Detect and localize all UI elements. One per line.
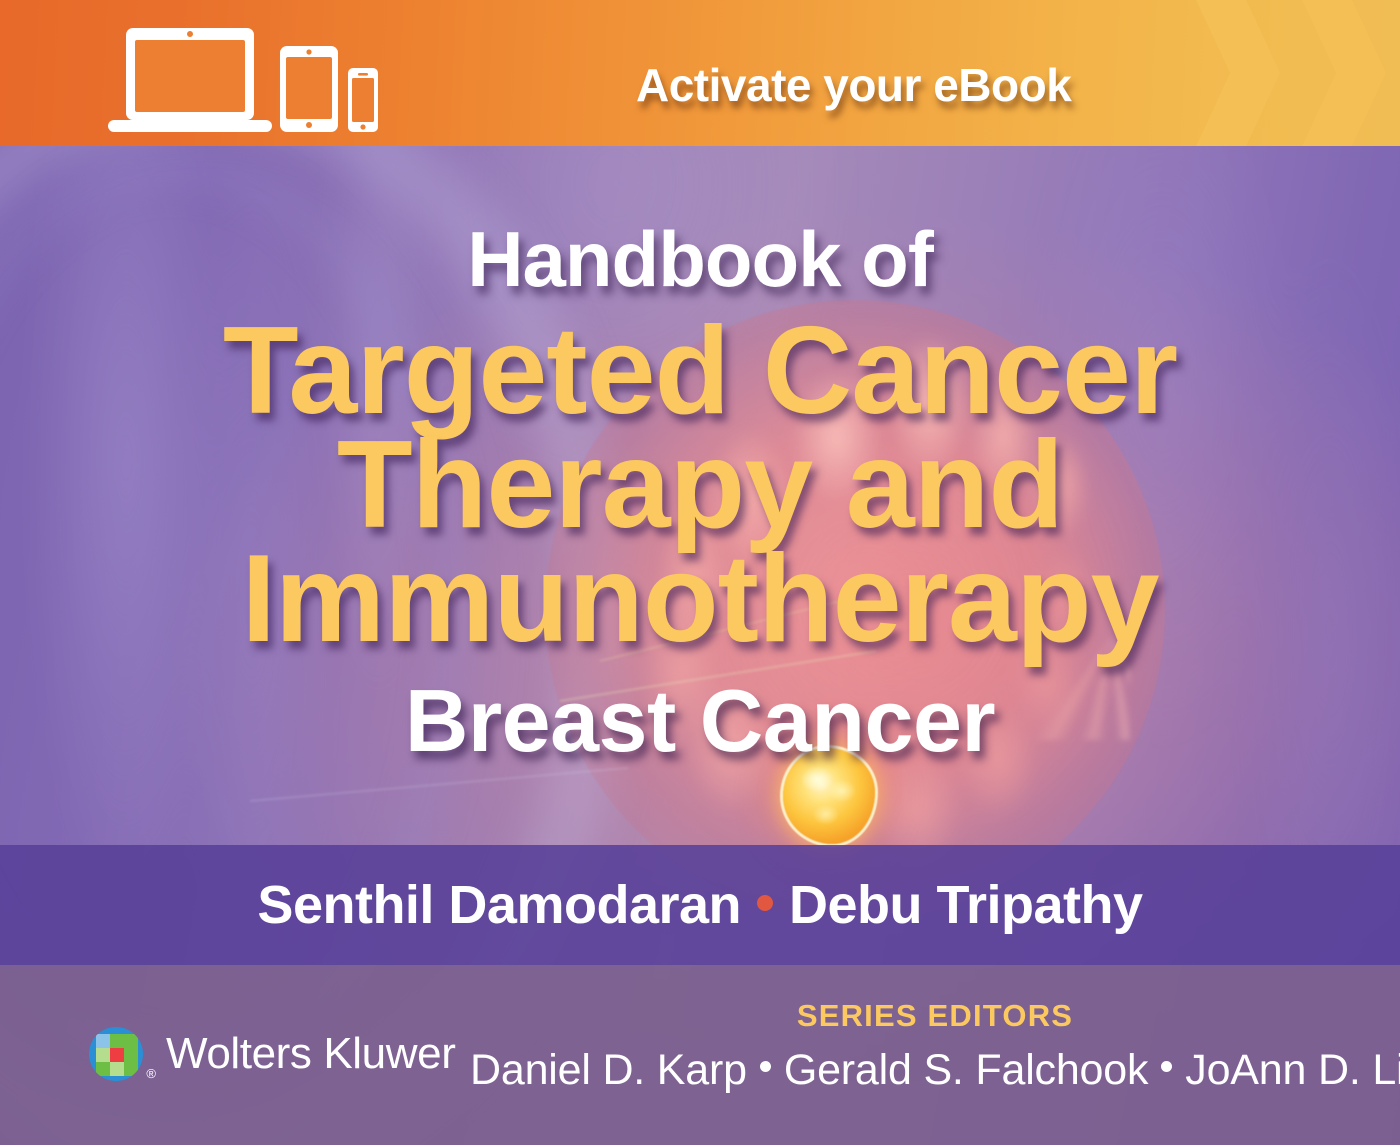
wolters-kluwer-mark-icon: ® bbox=[88, 1026, 144, 1082]
ebook-cta-text: Activate your eBook bbox=[636, 58, 1071, 112]
registered-trademark-icon: ® bbox=[146, 1067, 156, 1080]
main-title: Targeted Cancer Therapy and Immunotherap… bbox=[0, 314, 1400, 656]
author-separator-dot bbox=[757, 895, 773, 911]
book-cover: Activate your eBook Handbook of Targeted… bbox=[0, 0, 1400, 1145]
chevron-right-icon bbox=[1184, 0, 1280, 146]
ebook-activation-banner: Activate your eBook bbox=[0, 0, 1400, 146]
chevron-right-icon bbox=[1290, 0, 1386, 146]
title-block: Handbook of Targeted Cancer Therapy and … bbox=[0, 146, 1400, 772]
title-prefix: Handbook of bbox=[0, 220, 1400, 298]
series-editor-3: JoAnn D. Lim bbox=[1185, 1046, 1400, 1094]
series-editor-2: Gerald S. Falchook bbox=[784, 1046, 1148, 1094]
device-icons-group bbox=[108, 24, 378, 134]
series-editor-separator-dot bbox=[1161, 1061, 1172, 1072]
series-editor-separator-dot bbox=[760, 1061, 771, 1072]
subtitle: Breast Cancer bbox=[0, 670, 1400, 772]
series-editors-label: SERIES EDITORS bbox=[470, 998, 1400, 1034]
authors-text: Senthil DamodaranDebu Tripathy bbox=[257, 874, 1142, 936]
main-title-line-1: Targeted Cancer bbox=[0, 314, 1400, 428]
series-editors-block: SERIES EDITORS Daniel D. KarpGerald S. F… bbox=[470, 998, 1400, 1095]
laptop-icon bbox=[108, 28, 272, 132]
publisher-name: Wolters Kluwer bbox=[166, 1029, 455, 1079]
phone-icon bbox=[348, 68, 378, 132]
tablet-icon bbox=[280, 46, 338, 132]
series-editor-1: Daniel D. Karp bbox=[470, 1046, 747, 1094]
main-title-line-2: Therapy and bbox=[0, 428, 1400, 542]
series-editors-names: Daniel D. KarpGerald S. FalchookJoAnn D.… bbox=[470, 1046, 1400, 1095]
author-name-primary: Senthil Damodaran bbox=[257, 875, 741, 935]
authors-band: Senthil DamodaranDebu Tripathy bbox=[0, 845, 1400, 965]
author-name-secondary: Debu Tripathy bbox=[789, 875, 1143, 935]
main-title-line-3: Immunotherapy bbox=[0, 542, 1400, 656]
publisher-logo: ® Wolters Kluwer bbox=[88, 1026, 455, 1082]
